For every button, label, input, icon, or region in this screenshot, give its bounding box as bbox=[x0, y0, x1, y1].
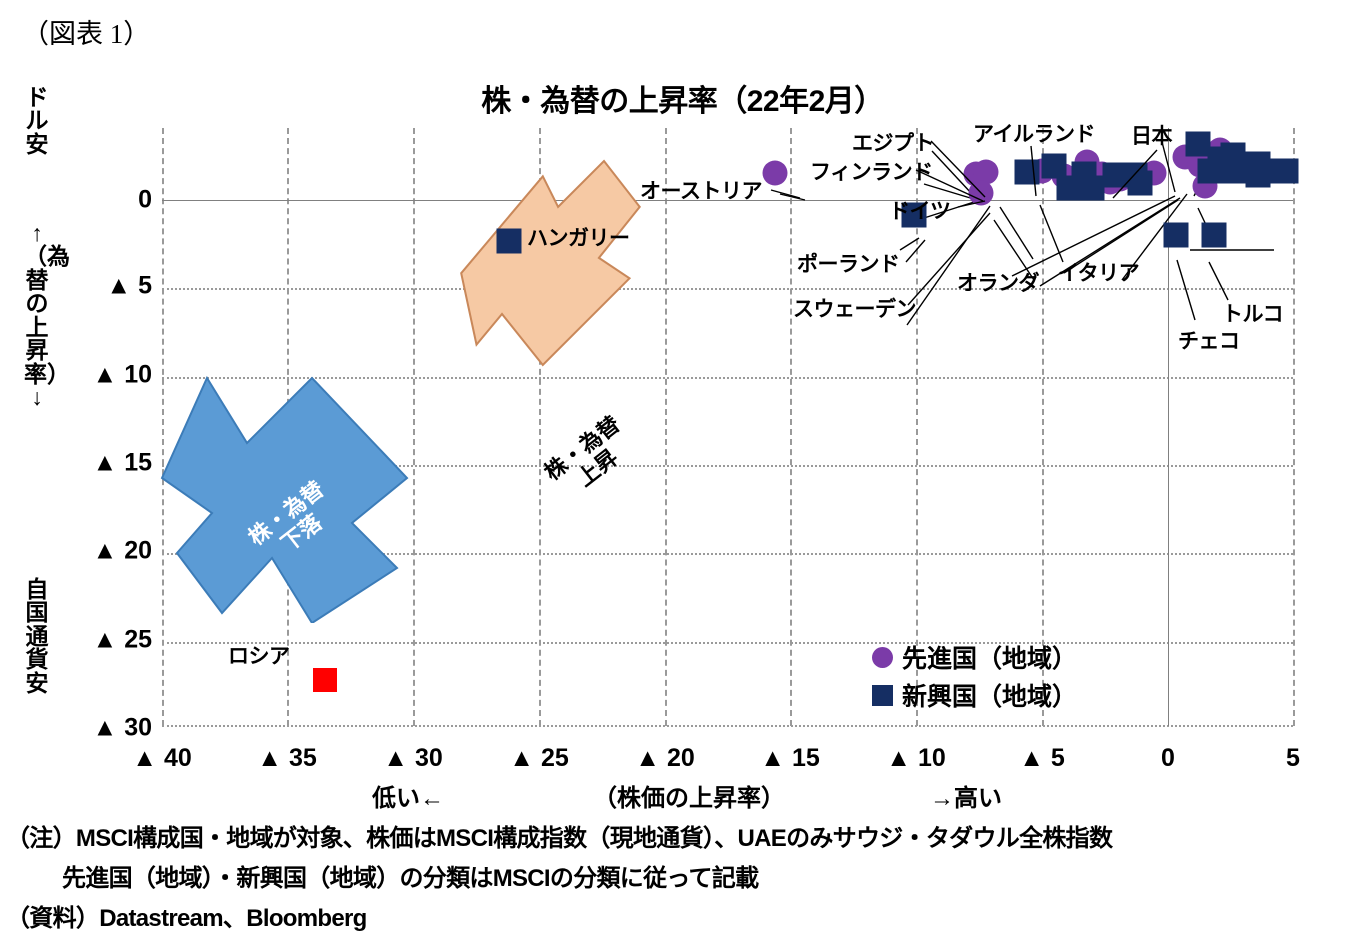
callout-label-sweden: スウェーデン bbox=[793, 293, 916, 323]
gridline-x-plus5 bbox=[1293, 128, 1295, 726]
callout-label-hungary: ハンガリー bbox=[527, 222, 630, 252]
arrow-down-shape bbox=[152, 323, 442, 623]
x-axis-caption-high: →高い bbox=[930, 778, 1002, 813]
x-tick--25: ▲ 25 bbox=[509, 744, 569, 773]
y-tick-30: ▲ 30 bbox=[93, 714, 153, 743]
callout-label-czech: チェコ bbox=[1178, 325, 1240, 355]
data-point-ハンガリー bbox=[496, 228, 521, 253]
legend-marker-circle-icon bbox=[872, 647, 893, 668]
note-line-3: （資料）Datastream、Bloomberg bbox=[6, 898, 367, 933]
gridline-x-15 bbox=[790, 128, 792, 726]
data-point bbox=[1185, 131, 1210, 156]
gridline-y-25 bbox=[162, 642, 1293, 644]
data-point-チェコ bbox=[1164, 223, 1189, 248]
legend-marker-square-icon bbox=[872, 685, 893, 706]
data-point bbox=[1127, 171, 1152, 196]
data-point bbox=[1273, 158, 1298, 183]
axis-line-x-zero bbox=[1168, 128, 1169, 726]
x-tick--5: ▲ 5 bbox=[1019, 744, 1065, 773]
x-tick--35: ▲ 35 bbox=[257, 744, 317, 773]
plot-area: 株・為替 上昇 株・為替 下落 bbox=[162, 128, 1293, 726]
callout-label-austria: オーストリア bbox=[640, 175, 762, 205]
callout-label-finland: フィンランド bbox=[810, 156, 933, 186]
callout-label-poland: ポーランド bbox=[797, 248, 900, 278]
legend: 先進国（地域） 新興国（地域） bbox=[872, 638, 1077, 714]
note-line-1: （注）MSCI構成国・地域が対象、株価はMSCI構成指数（現地通貨）、UAEのみ… bbox=[6, 818, 1112, 853]
callout-label-italy: イタリア bbox=[1058, 257, 1139, 287]
callout-label-egypt: エジプト bbox=[852, 127, 934, 157]
x-tick--30: ▲ 30 bbox=[383, 744, 443, 773]
y-tick-5: ▲ 5 bbox=[106, 272, 152, 301]
callout-label-japan: 日本 bbox=[1131, 120, 1172, 150]
gridline-x-5 bbox=[1042, 128, 1044, 726]
data-point-オーストリア bbox=[763, 161, 788, 186]
callout-label-netherlands: オランダ bbox=[957, 267, 1039, 297]
legend-label-emerging: 新興国（地域） bbox=[902, 677, 1077, 713]
y-tick-10: ▲ 10 bbox=[93, 361, 153, 390]
callout-label-ireland: アイルランド bbox=[973, 118, 1095, 148]
y-axis-bottom-label: 自国通貨安 bbox=[24, 578, 50, 695]
data-point bbox=[1079, 176, 1104, 201]
y-tick-0: 0 bbox=[138, 186, 152, 215]
y-tick-15: ▲ 15 bbox=[93, 449, 153, 478]
x-tick--20: ▲ 20 bbox=[635, 744, 695, 773]
callout-label-germany: ドイツ bbox=[889, 195, 951, 225]
gridline-x-20 bbox=[665, 128, 667, 726]
y-axis-mid-label: ↑（為替の上昇率）↓ bbox=[24, 222, 50, 410]
x-tick--40: ▲ 40 bbox=[132, 744, 192, 773]
gridline-y-5 bbox=[162, 288, 1293, 290]
y-tick-20: ▲ 20 bbox=[93, 537, 153, 566]
x-tick-5: 5 bbox=[1286, 744, 1300, 773]
x-axis-caption-center: （株価の上昇率） bbox=[593, 778, 785, 813]
note-line-2: 先進国（地域）・新興国（地域）の分類はMSCIの分類に従って記載 bbox=[62, 858, 758, 893]
data-point bbox=[1014, 160, 1039, 185]
legend-item-emerging: 新興国（地域） bbox=[872, 676, 1077, 714]
data-point-トルコ bbox=[1201, 223, 1226, 248]
x-tick--10: ▲ 10 bbox=[886, 744, 946, 773]
data-point-ロシア bbox=[313, 668, 337, 692]
y-axis-ticks: 0 ▲ 5 ▲ 10 ▲ 15 ▲ 20 ▲ 25 ▲ 30 bbox=[60, 128, 152, 726]
gridline-y-30 bbox=[162, 725, 1293, 727]
x-axis-caption-low: 低い← bbox=[372, 778, 444, 813]
callout-label-russia: ロシア bbox=[228, 640, 290, 670]
x-tick--15: ▲ 15 bbox=[760, 744, 820, 773]
x-tick-0: 0 bbox=[1161, 744, 1175, 773]
legend-label-developed: 先進国（地域） bbox=[902, 639, 1077, 675]
y-tick-25: ▲ 25 bbox=[93, 626, 153, 655]
data-point-オランダ bbox=[969, 180, 994, 205]
y-axis-top-label: ドル安 bbox=[24, 86, 50, 156]
chart-title: 株・為替の上昇率（22年2月） bbox=[0, 76, 1365, 120]
x-axis-ticks: ▲ 40 ▲ 35 ▲ 30 ▲ 25 ▲ 20 ▲ 15 ▲ 10 ▲ 5 0… bbox=[162, 744, 1293, 778]
legend-item-developed: 先進国（地域） bbox=[872, 638, 1077, 676]
data-point bbox=[1198, 158, 1223, 183]
callout-label-turkey: トルコ bbox=[1222, 298, 1283, 328]
figure-number: （図表 1） bbox=[22, 12, 150, 51]
